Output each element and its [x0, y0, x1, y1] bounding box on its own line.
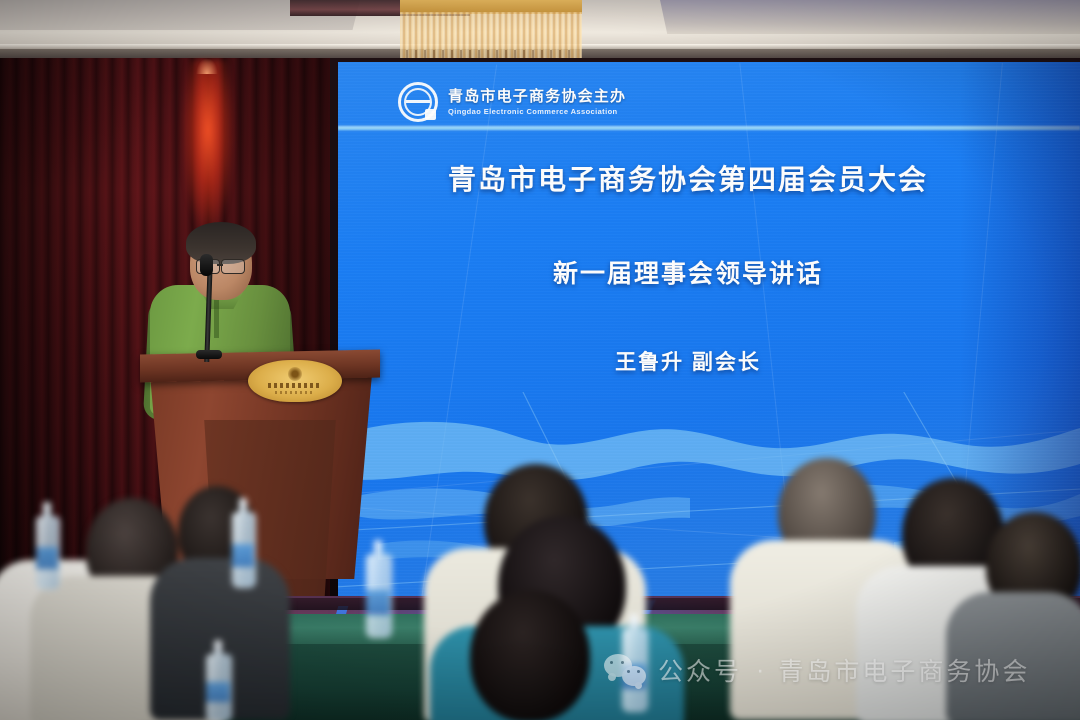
microphone-base: [196, 350, 222, 359]
watermark-label: 公众号: [658, 652, 742, 688]
water-bottle: [366, 540, 390, 636]
water-bottle: [232, 498, 254, 586]
microphone-icon: [200, 254, 213, 276]
water-bottle: [36, 502, 58, 588]
eyeglasses-bridge-icon: [217, 264, 223, 266]
eyeglasses-right-lens-icon: [221, 259, 245, 274]
water-bottle: [206, 640, 230, 720]
screenshot-root: 青岛市电子商务协会主办 Qingdao Electronic Commerce …: [0, 0, 1080, 720]
podium-emblem: [248, 360, 342, 402]
speaker-placket: [214, 296, 219, 338]
watermark-separator: ·: [754, 656, 766, 685]
wechat-icon: [604, 654, 646, 686]
watermark-account: 青岛市电子商务协会: [778, 652, 1030, 688]
watermark: 公众号 · 青岛市电子商务协会: [604, 652, 1030, 688]
audience-head: [470, 590, 590, 720]
speaker-hair: [186, 222, 256, 264]
